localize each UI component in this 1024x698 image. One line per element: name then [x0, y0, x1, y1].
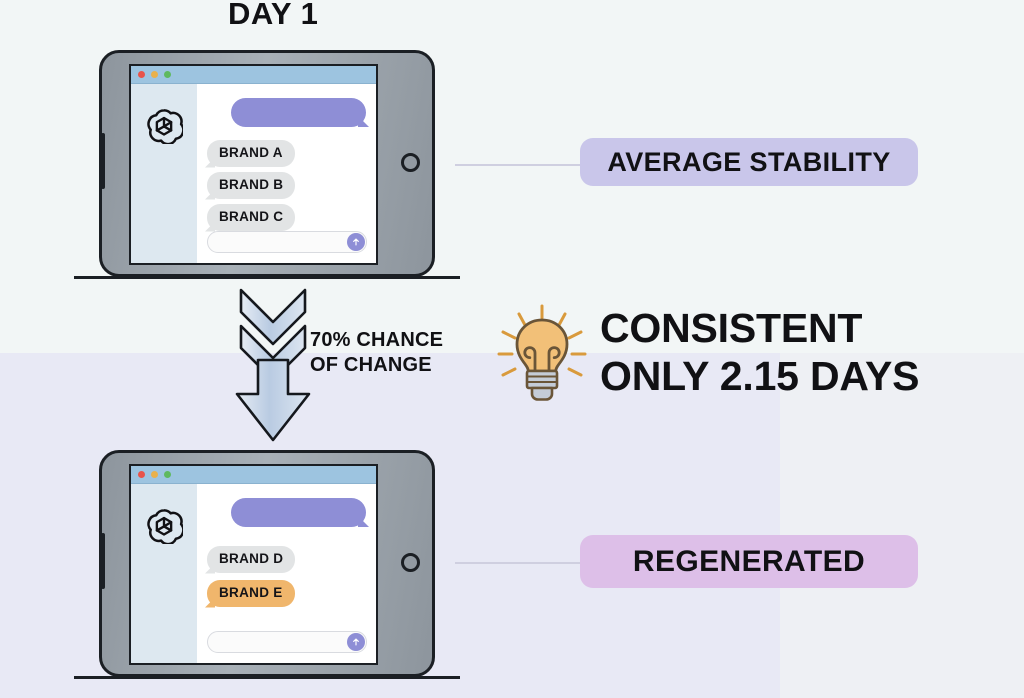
status-badge-regenerated: REGENERATED [580, 535, 918, 588]
response-bubble[interactable]: BRAND B [207, 172, 295, 199]
headline-line-1: CONSISTENT [600, 304, 919, 352]
window-titlebar [131, 66, 376, 84]
transition-arrow [231, 288, 315, 448]
send-button[interactable] [347, 233, 365, 251]
callout-connector-line [455, 164, 583, 166]
window-titlebar [131, 466, 376, 484]
status-badge-average-stability: AVERAGE STABILITY [580, 138, 918, 186]
background-bottom-right-band [780, 353, 1024, 698]
response-bubble[interactable]: BRAND C [207, 204, 295, 231]
tablet-ground-line-bottom [74, 676, 460, 679]
home-button-icon[interactable] [401, 153, 420, 172]
openai-logo-icon [145, 506, 183, 544]
close-dot-icon[interactable] [138, 71, 145, 78]
callout-connector-line [455, 562, 583, 564]
tablet-screen-day-1: BRAND A BRAND B BRAND C [129, 64, 378, 265]
send-button[interactable] [347, 633, 365, 651]
close-dot-icon[interactable] [138, 471, 145, 478]
response-bubble[interactable]: BRAND A [207, 140, 295, 167]
probability-line-1: 70% CHANCE [310, 328, 443, 353]
chat-panel: BRAND D BRAND E [197, 484, 376, 663]
home-button-icon[interactable] [401, 553, 420, 572]
probability-line-2: OF CHANGE [310, 353, 443, 378]
double-chevron-down-arrow-icon [231, 288, 315, 448]
day-label: DAY 1 [228, 0, 318, 32]
volume-button[interactable] [101, 133, 105, 189]
openai-logo-icon [145, 106, 183, 144]
infographic-canvas: DAY 1 BRAND A [0, 0, 1024, 698]
app-sidebar [131, 84, 197, 263]
probability-label: 70% CHANCE OF CHANGE [310, 328, 443, 378]
headline-line-2: ONLY 2.15 DAYS [600, 352, 919, 400]
app-body: BRAND A BRAND B BRAND C [131, 84, 376, 263]
chat-panel: BRAND A BRAND B BRAND C [197, 84, 376, 263]
app-sidebar [131, 484, 197, 663]
response-bubble-highlighted[interactable]: BRAND E [207, 580, 295, 607]
app-body: BRAND D BRAND E [131, 484, 376, 663]
minimize-dot-icon[interactable] [151, 471, 158, 478]
message-input[interactable] [207, 231, 367, 253]
minimize-dot-icon[interactable] [151, 71, 158, 78]
maximize-dot-icon[interactable] [164, 71, 171, 78]
insight-headline: CONSISTENT ONLY 2.15 DAYS [600, 304, 919, 401]
response-bubble[interactable]: BRAND D [207, 546, 295, 573]
user-message-bubble [231, 98, 366, 127]
tablet-screen-regenerated: BRAND D BRAND E [129, 464, 378, 665]
arrow-up-icon [351, 637, 361, 647]
arrow-up-icon [351, 237, 361, 247]
user-message-bubble [231, 498, 366, 527]
message-input[interactable] [207, 631, 367, 653]
volume-button[interactable] [101, 533, 105, 589]
tablet-regenerated: BRAND D BRAND E [99, 450, 435, 677]
tablet-day-1: BRAND A BRAND B BRAND C [99, 50, 435, 277]
maximize-dot-icon[interactable] [164, 471, 171, 478]
lightbulb-icon [492, 302, 592, 404]
tablet-ground-line-top [74, 276, 460, 279]
